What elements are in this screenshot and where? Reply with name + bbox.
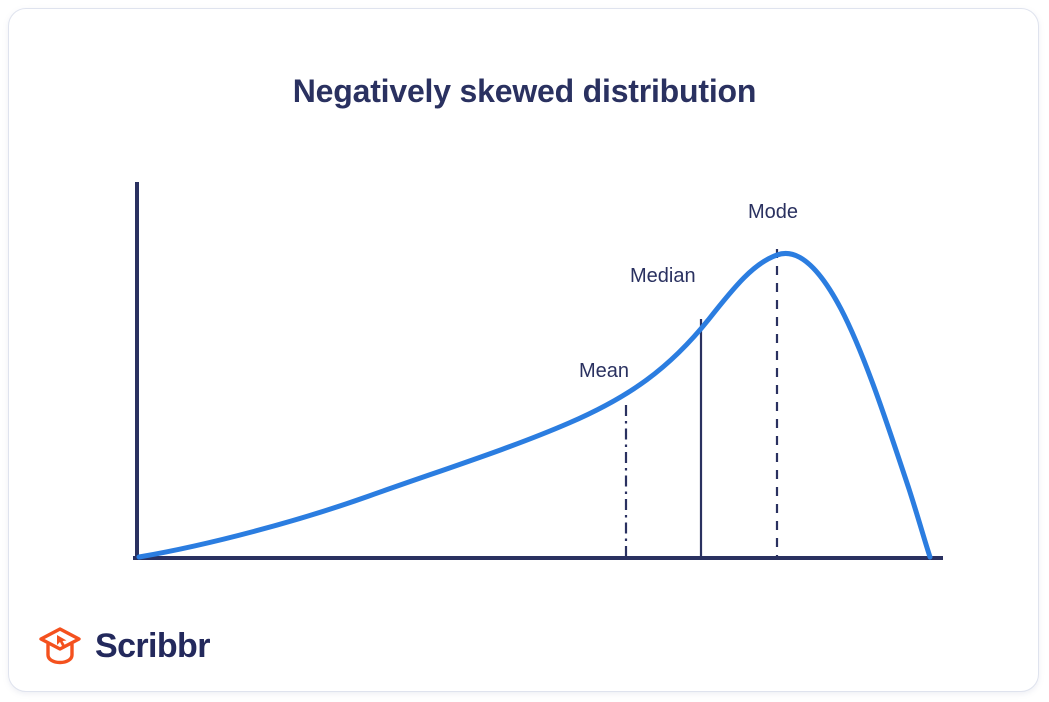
brand-name: Scribbr [95, 629, 210, 663]
scribbr-logo: Scribbr [37, 625, 210, 667]
median-label: Median [630, 265, 696, 288]
mean-label: Mean [579, 360, 629, 383]
mode-label: Mode [748, 201, 798, 224]
graduation-cap-cursor-icon [37, 625, 83, 667]
chart-plot-area: Mode Median Mean [9, 9, 1039, 692]
distribution-curve [139, 253, 930, 557]
chart-card: Negatively skewed distribution Mode Medi… [8, 8, 1039, 692]
distribution-chart-svg [9, 9, 1039, 692]
